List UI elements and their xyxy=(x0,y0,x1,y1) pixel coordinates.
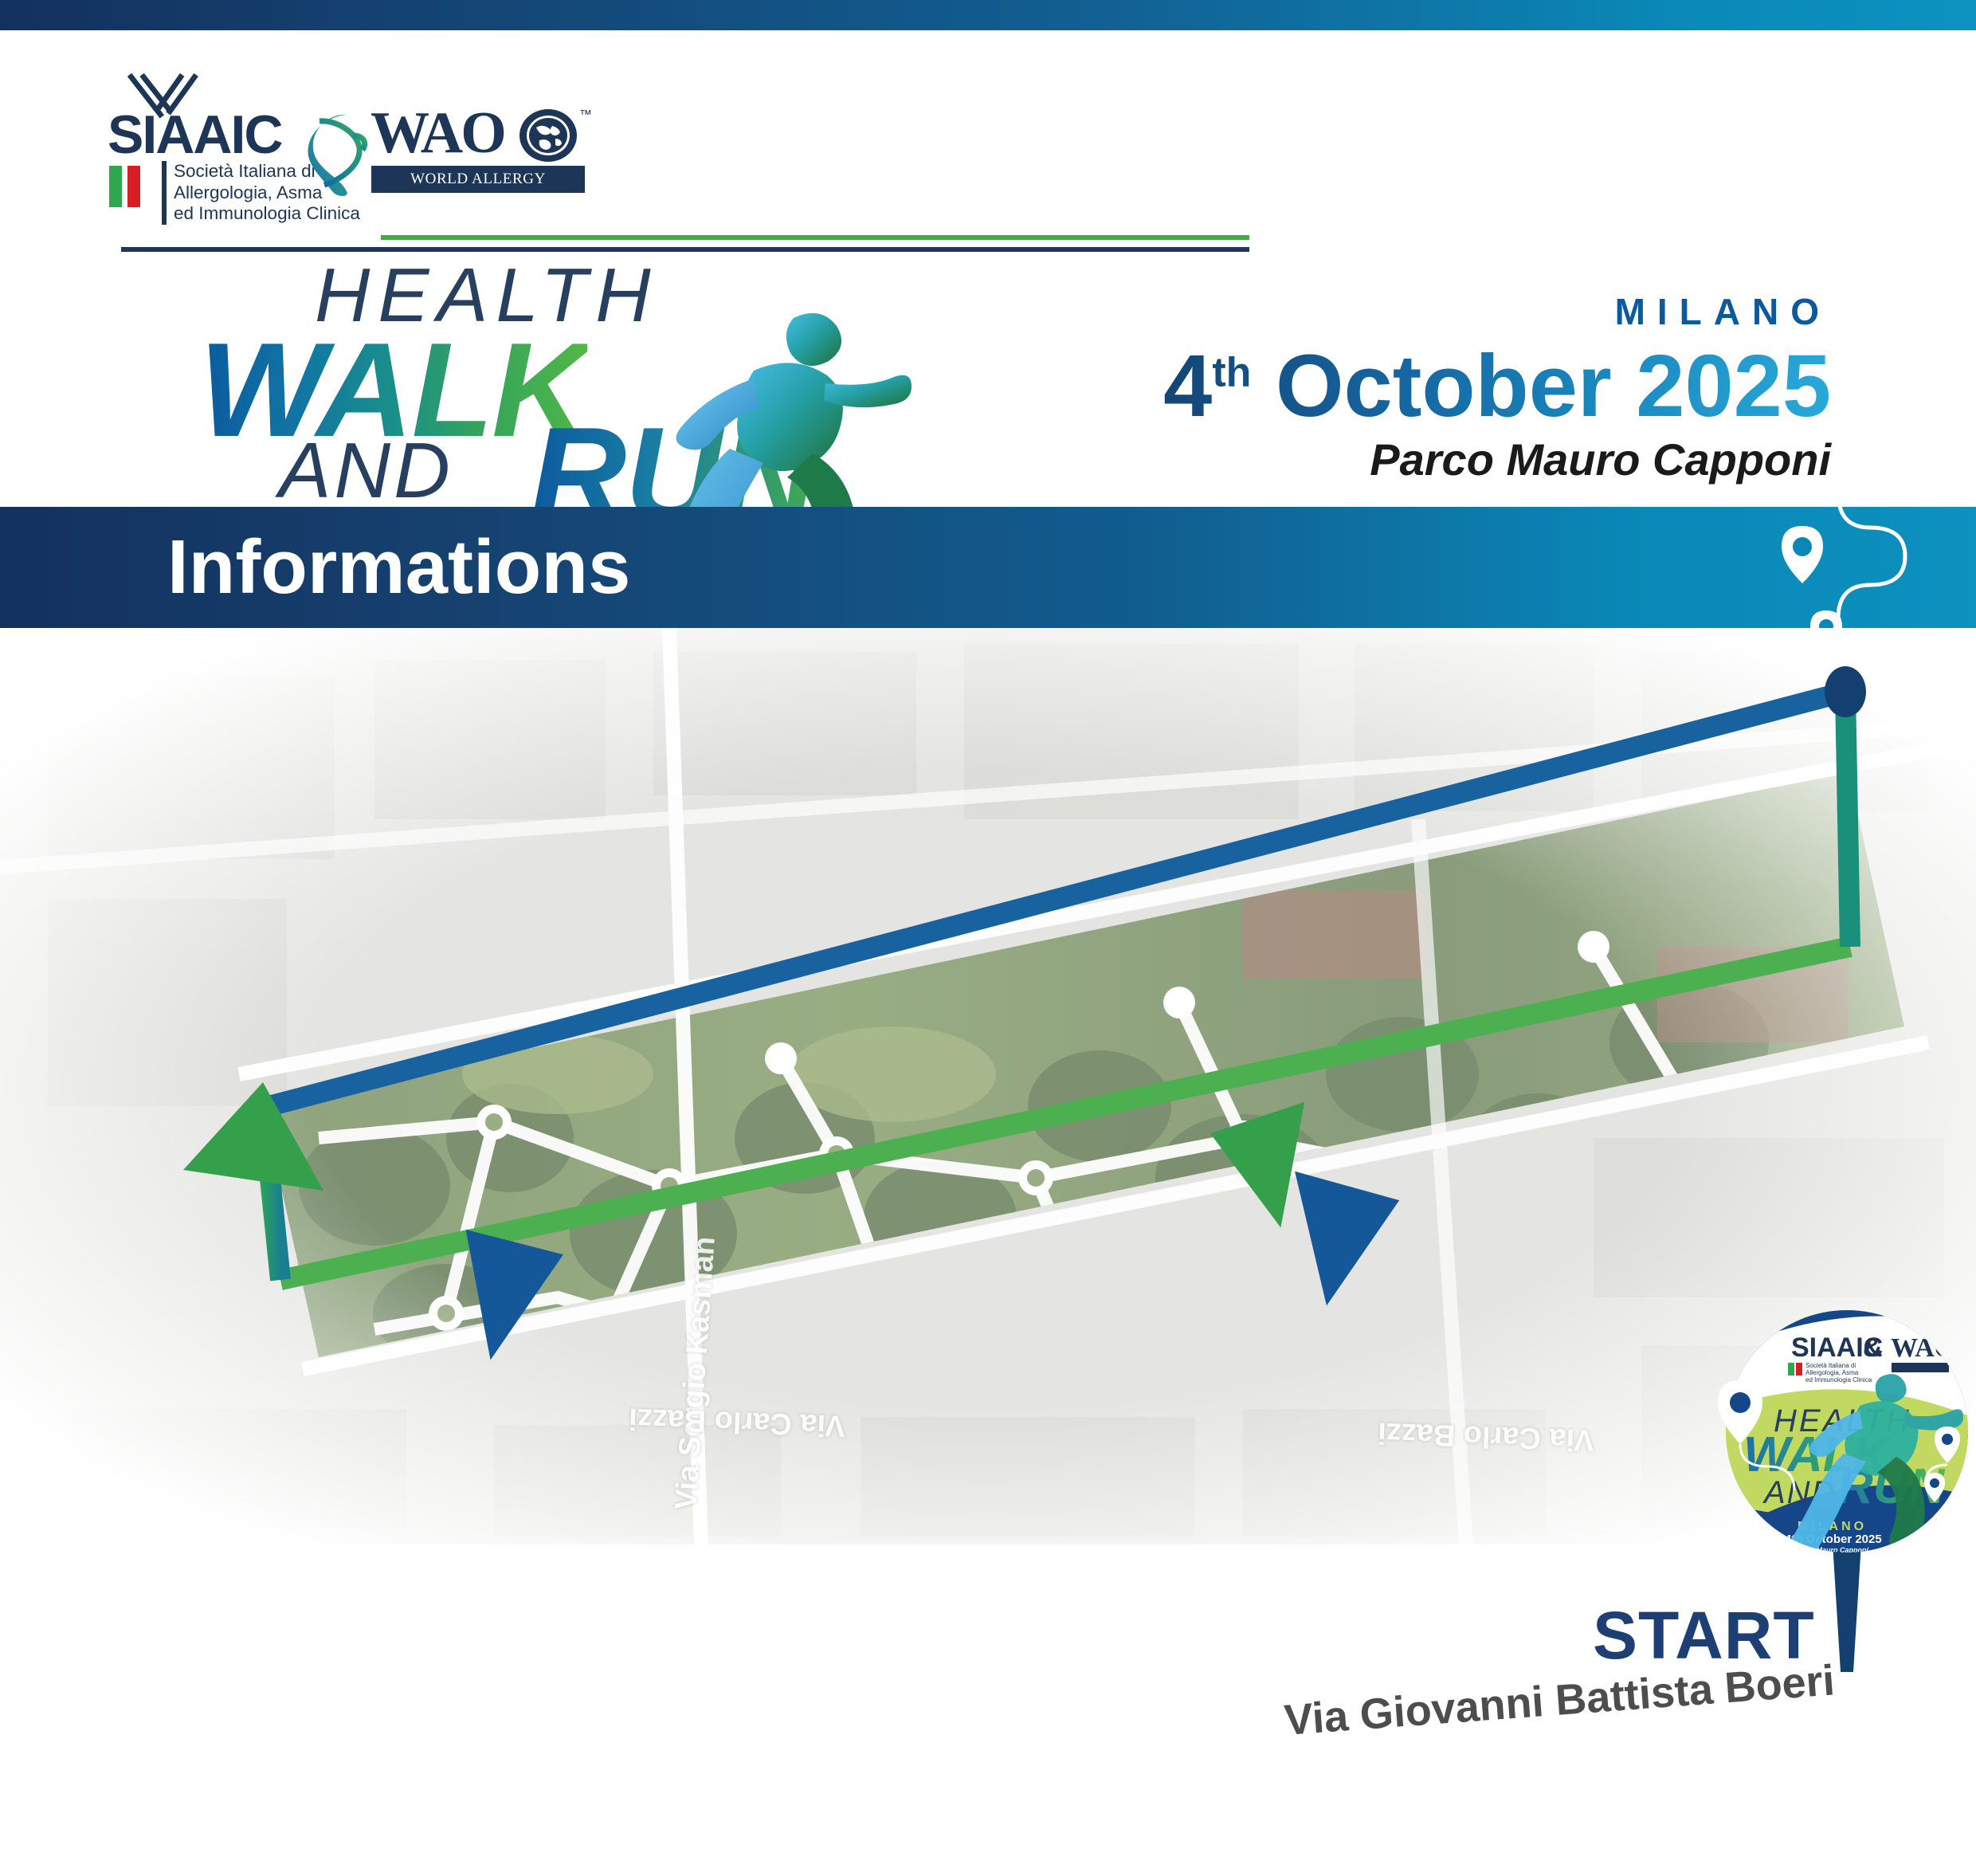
divider-navy xyxy=(121,247,1249,252)
event-city: MILANO xyxy=(1130,293,1831,330)
svg-text:&: & xyxy=(1863,1332,1883,1363)
event-day: 4 xyxy=(1163,337,1212,435)
wao-wordmark: WAO xyxy=(370,104,504,163)
event-day-suffix: th xyxy=(1212,349,1251,395)
banner-title: Informations xyxy=(167,521,630,613)
page-header: SIAAIC Società Italiana di Allergologia,… xyxy=(0,30,1976,507)
event-logo-and: AND xyxy=(279,431,453,509)
svg-text:ed Immunologia Clinica: ed Immunologia Clinica xyxy=(1805,1376,1872,1383)
svg-text:Allergologia, Asma: Allergologia, Asma xyxy=(1805,1369,1859,1376)
ampersand-icon xyxy=(297,108,369,196)
course-turnaround-right xyxy=(1845,692,1850,947)
event-badge-map-pin[interactable]: SIAAIC & WAO Società Italiana di Allergo… xyxy=(1711,1304,1976,1678)
top-accent-bar xyxy=(0,0,1976,30)
course-map-section: Via Sergio Kasman Via Carlo Bazzi Via Ca… xyxy=(0,628,1976,1876)
start-point-marker xyxy=(1825,666,1866,717)
event-month-year: October 2025 xyxy=(1276,337,1831,435)
organization-logos: SIAAIC Società Italiana di Allergologia,… xyxy=(108,72,602,199)
wao-full-name: WORLD ALLERGY ORGANIZATION xyxy=(371,166,585,193)
course-leg-outbound xyxy=(263,692,1845,1108)
event-venue: Parco Mauro Capponi xyxy=(1130,435,1831,485)
divider-green xyxy=(381,235,1249,240)
siaaic-subtitle-line3: ed Immunologia Clinica xyxy=(174,203,360,225)
event-logo: HEALTH WALK AND RUN xyxy=(120,257,932,512)
map-pin-path-decoration-icon xyxy=(1707,507,1946,628)
wao-logo: WAO ™ WORLD ALLERGY ORGANIZATION xyxy=(370,104,610,207)
svg-text:Società Italiana di: Società Italiana di xyxy=(1805,1362,1856,1369)
siaaic-wordmark: SIAAIC xyxy=(108,108,281,162)
event-date: 4th October 2025 xyxy=(1130,343,1831,430)
globe-icon xyxy=(519,108,578,163)
race-course-overlay xyxy=(0,628,1976,1584)
course-leg-return xyxy=(280,947,1850,1280)
siaaic-logo: SIAAIC Società Italiana di Allergologia,… xyxy=(108,72,307,199)
informations-banner: Informations xyxy=(0,507,1976,628)
event-date-block: MILANO 4th October 2025 Parco Mauro Capp… xyxy=(1130,293,1831,485)
svg-text:WAO: WAO xyxy=(1891,1333,1955,1363)
wao-trademark: ™ xyxy=(579,108,592,123)
italian-flag-icon xyxy=(109,166,155,207)
